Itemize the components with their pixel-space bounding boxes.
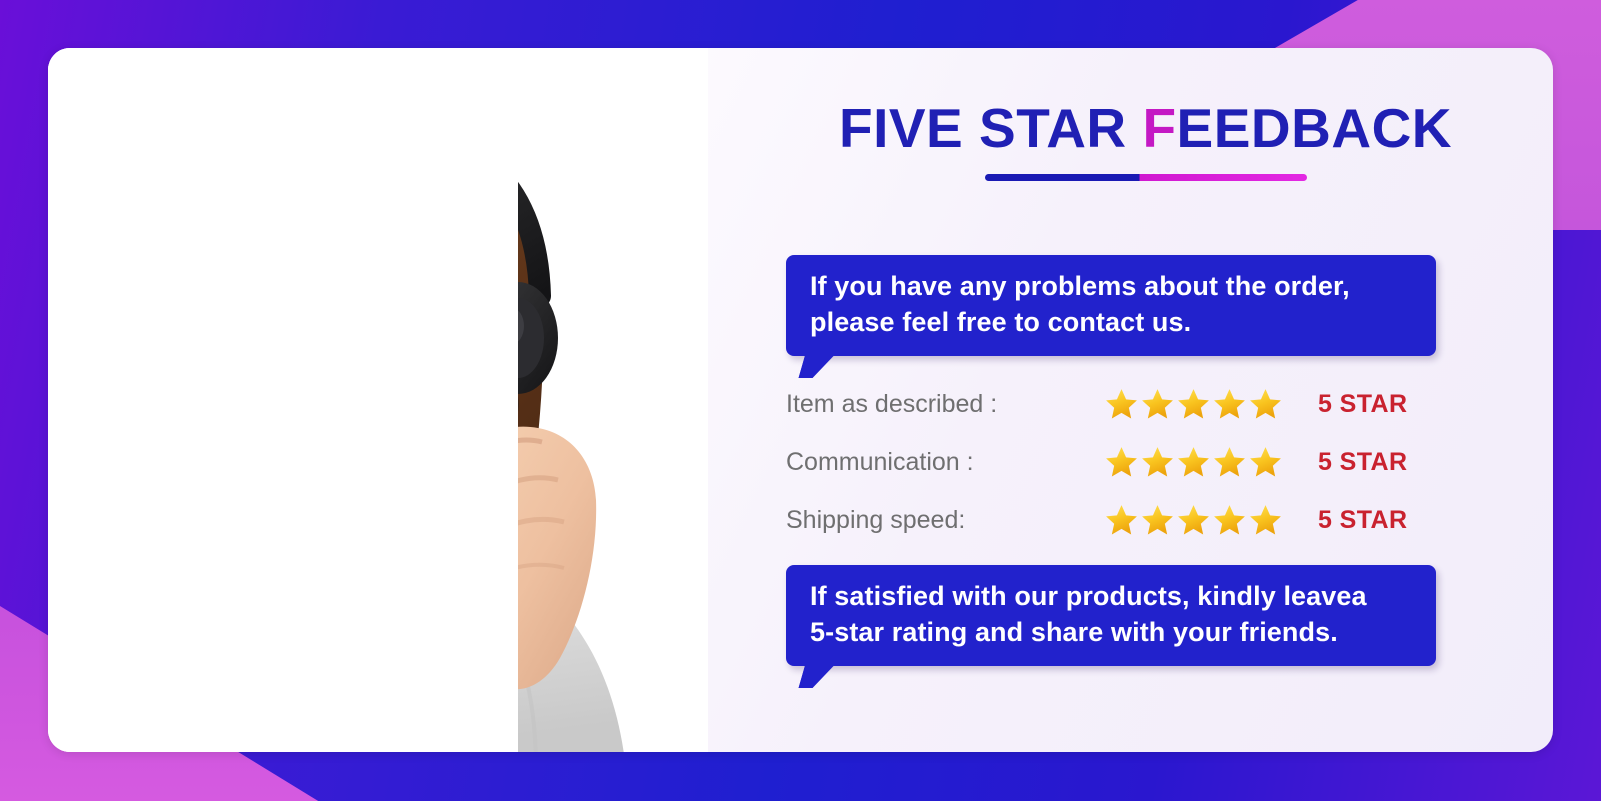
rating-value: 5 STAR — [1294, 390, 1407, 419]
title-underline — [985, 174, 1307, 181]
rating-label: Item as described : — [786, 390, 1104, 419]
star-icon — [1212, 503, 1247, 537]
title-accent-letter: F — [1142, 97, 1176, 159]
agent-photo — [66, 70, 666, 752]
star-icon — [1104, 445, 1139, 479]
rating-label: Shipping speed: — [786, 506, 1104, 535]
star-rating — [1104, 503, 1294, 537]
star-icon — [1140, 445, 1175, 479]
star-icon — [1140, 503, 1175, 537]
rating-value: 5 STAR — [1294, 448, 1407, 477]
satisfaction-message-bubble: If satisfied with our products, kindly l… — [786, 565, 1436, 666]
star-icon — [1176, 503, 1211, 537]
star-icon — [1212, 387, 1247, 421]
feedback-content: FIVE STAR FEEDBACK If you have any probl… — [738, 48, 1553, 752]
ratings-list: Item as described : 5 STAR Communication… — [786, 375, 1436, 549]
page-title: FIVE STAR FEEDBACK — [738, 96, 1553, 160]
rating-row: Communication : 5 STAR — [786, 433, 1436, 491]
contact-message-line-2: please feel free to contact us. — [810, 305, 1414, 341]
rating-label: Communication : — [786, 448, 1104, 477]
satisfaction-message-line-2: 5-star rating and share with your friend… — [810, 615, 1414, 651]
feedback-banner: FIVE STAR FEEDBACK If you have any probl… — [0, 0, 1601, 801]
star-icon — [1104, 503, 1139, 537]
star-icon — [1212, 445, 1247, 479]
contact-message-line-1: If you have any problems about the order… — [810, 269, 1414, 305]
title-rest: EEDBACK — [1177, 97, 1452, 159]
rating-row: Item as described : 5 STAR — [786, 375, 1436, 433]
star-rating — [1104, 445, 1294, 479]
satisfaction-message-line-1: If satisfied with our products, kindly l… — [810, 579, 1414, 615]
title-main: FIVE STAR — [839, 97, 1142, 159]
star-icon — [1176, 445, 1211, 479]
rating-row: Shipping speed: 5 STAR — [786, 491, 1436, 549]
star-icon — [1248, 503, 1283, 537]
photo-panel — [48, 48, 708, 752]
star-icon — [1248, 387, 1283, 421]
star-icon — [1248, 445, 1283, 479]
rating-value: 5 STAR — [1294, 506, 1407, 535]
star-rating — [1104, 387, 1294, 421]
star-icon — [1140, 387, 1175, 421]
contact-message-bubble: If you have any problems about the order… — [786, 255, 1436, 356]
star-icon — [1104, 387, 1139, 421]
content-card: FIVE STAR FEEDBACK If you have any probl… — [48, 48, 1553, 752]
star-icon — [1176, 387, 1211, 421]
